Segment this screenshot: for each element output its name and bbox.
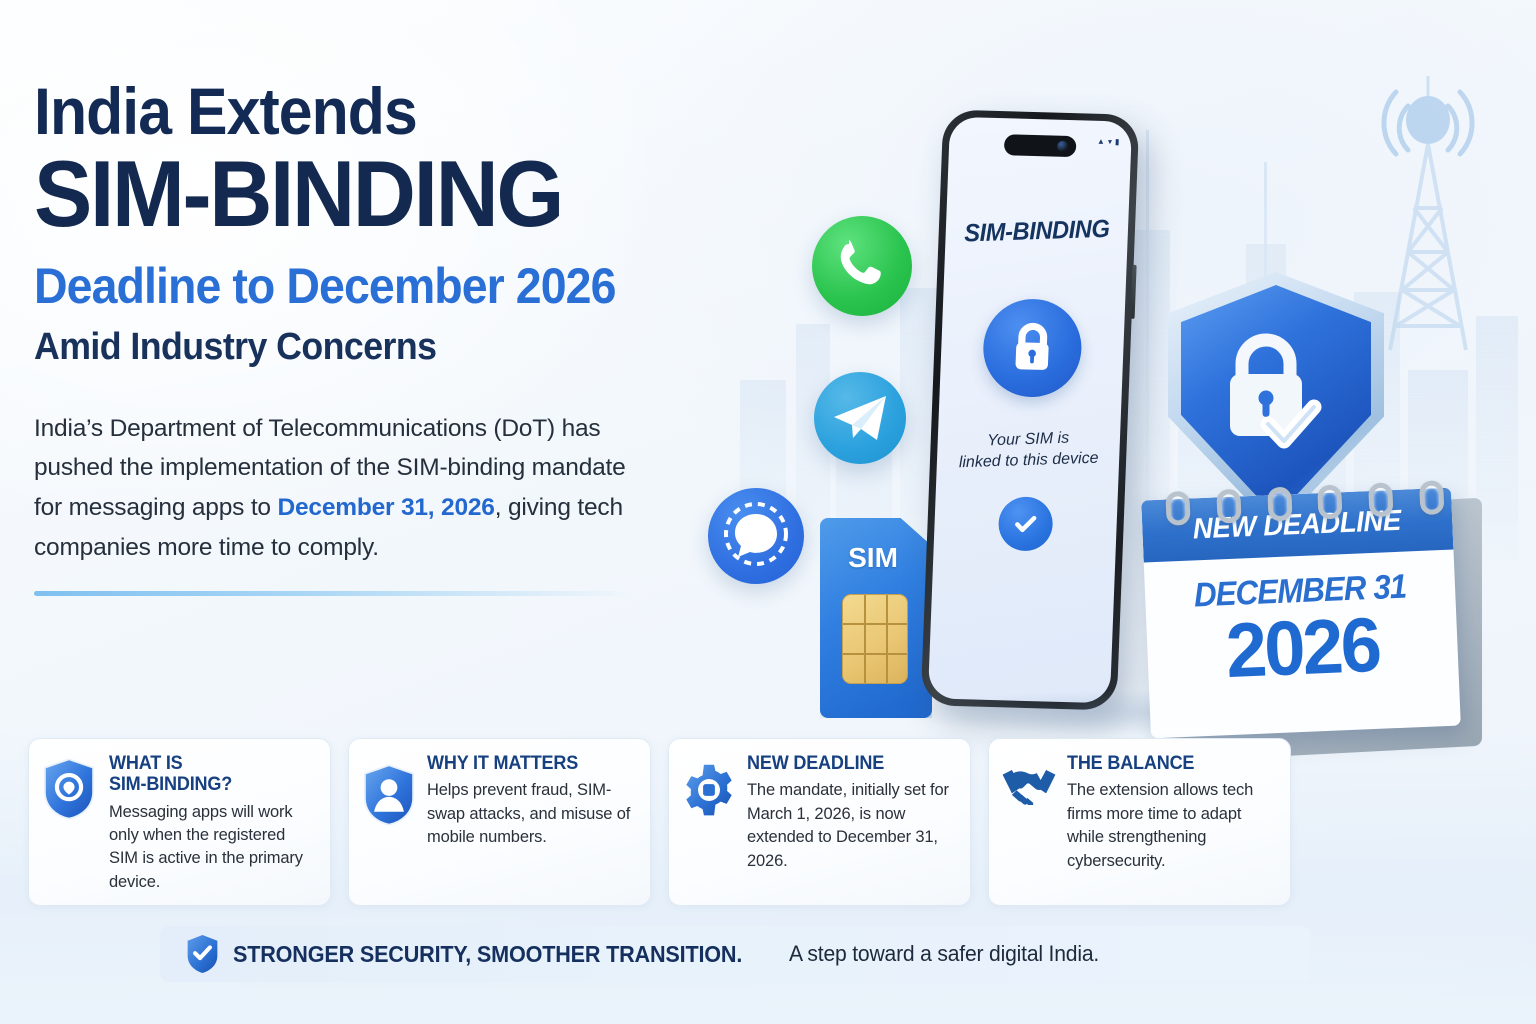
headline-line-2: SIM-BINDING [34,146,648,242]
info-card-title-line-1: WHAT IS [109,753,183,774]
phone-caption-line-2: linked to this device [943,448,1114,475]
handshake-icon [1001,753,1057,893]
infographic-canvas: India Extends SIM-BINDING Deadline to De… [0,0,1536,1024]
section-divider [34,591,634,596]
telegram-icon [814,372,906,464]
info-card-title: THE BALANCE [1067,753,1265,774]
sim-card-label: SIM [820,542,926,574]
lock-icon [982,298,1084,399]
phone-notch [1004,134,1077,157]
sim-chip-icon [842,594,908,684]
info-card-body: The mandate, initially set for March 1, … [747,779,955,873]
headline-line-4: Amid Industry Concerns [34,327,654,369]
info-card-body: The extension allows tech firms more tim… [1067,779,1275,873]
banner-strong-text: STRONGER SECURITY, SMOOTHER TRANSITION. [233,941,742,968]
sim-card-graphic: SIM [820,518,932,718]
intro-paragraph: India’s Department of Telecommunications… [34,409,634,568]
info-card-the-balance: THE BALANCE The extension allows tech fi… [988,738,1291,906]
info-card-body: Helps prevent fraud, SIM-swap attacks, a… [427,779,635,849]
battery-icon: ▮ [1115,137,1120,146]
phone-screen-title: SIM-BINDING [950,214,1124,249]
signal-bars-icon: ▲ [1097,137,1105,146]
info-card-new-deadline: NEW DEADLINE The mandate, initially set … [668,738,971,906]
phone-screen-caption: Your SIM is linked to this device [943,426,1114,474]
smartphone-mockup: ▲ ▾ ▮ SIM-BINDING Your SIM is linked to … [921,109,1140,710]
footer-banner: STRONGER SECURITY, SMOOTHER TRANSITION. … [160,926,1310,982]
calendar-year: 2026 [1152,607,1452,690]
info-card-title: WHY IT MATTERS [427,753,625,774]
phone-status-bar: ▲ ▾ ▮ [1097,137,1120,147]
info-card-title: WHAT IS SIM-BINDING? [109,753,305,796]
info-card-what-is-sim-binding: WHAT IS SIM-BINDING? Messaging apps will… [28,738,331,906]
intro-highlight-date: December 31, 2026 [277,494,494,521]
info-card-title-line-2: SIM-BINDING? [109,774,232,795]
headline-line-3: Deadline to December 2026 [34,260,648,313]
info-cards-row: WHAT IS SIM-BINDING? Messaging apps will… [28,738,1291,906]
headline-block: India Extends SIM-BINDING Deadline to De… [34,78,694,596]
shield-check-icon [41,753,97,893]
headline-line-1: India Extends [34,78,641,144]
info-card-title: NEW DEADLINE [747,753,945,774]
whatsapp-icon [812,216,912,316]
info-card-body: Messaging apps will work only when the r… [109,801,315,895]
gear-icon [681,753,737,893]
phone-screen: ▲ ▾ ▮ SIM-BINDING Your SIM is linked to … [928,117,1132,704]
signal-icon [708,488,804,584]
shield-check-icon [186,934,219,974]
shield-user-icon [361,753,417,893]
check-circle-icon [998,496,1054,551]
calendar-graphic: NEW DEADLINE DECEMBER 31 2026 [1146,488,1476,756]
info-card-why-it-matters: WHY IT MATTERS Helps prevent fraud, SIM-… [348,738,651,906]
banner-light-text: A step toward a safer digital India. [789,941,1099,967]
wifi-icon: ▾ [1108,137,1112,146]
